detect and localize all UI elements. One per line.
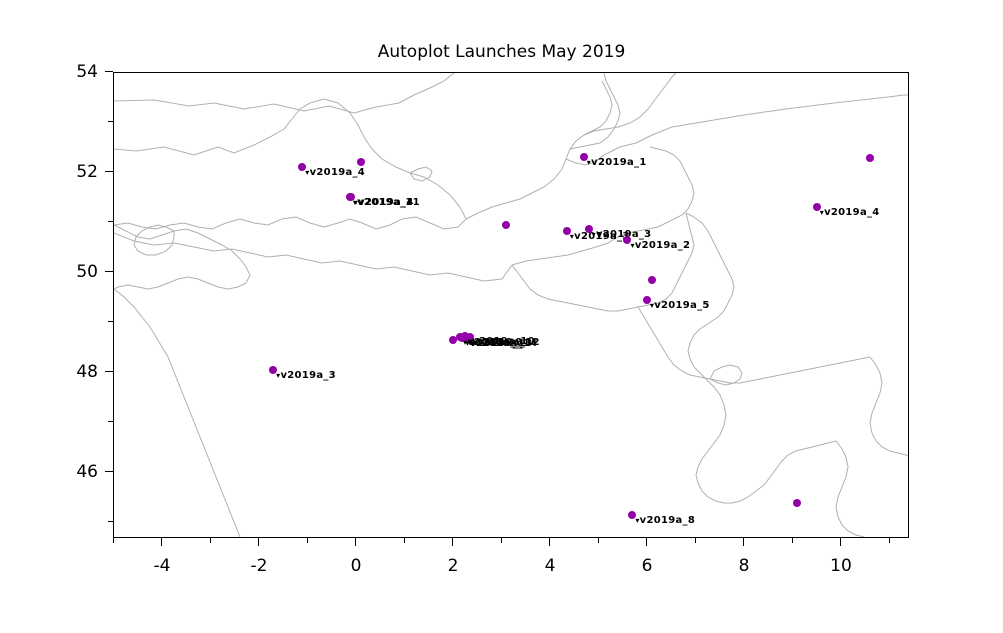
- xtick-label-2: 2: [423, 556, 483, 576]
- xtick-major-0: [355, 538, 356, 546]
- data-point-label: ▾v2019a_4: [820, 208, 880, 218]
- ytick-minor-51: [108, 221, 113, 222]
- data-point-label: ▾v2019a_9: [463, 338, 523, 348]
- ytick-label-46: 46: [38, 462, 98, 482]
- ytick-major-50: [105, 271, 113, 272]
- xtick-label-4: 4: [520, 556, 580, 576]
- ytick-label-50: 50: [38, 262, 98, 282]
- ytick-minor-49: [108, 321, 113, 322]
- xtick-label-m4: -4: [132, 556, 192, 576]
- ytick-major-52: [105, 171, 113, 172]
- map-coastlines: [114, 73, 909, 538]
- ytick-major-54: [105, 71, 113, 72]
- xtick-minor-7: [695, 538, 696, 543]
- xtick-label-10: 10: [811, 556, 871, 576]
- xtick-label-0: 0: [326, 556, 386, 576]
- data-point-label: ▾v2019a_2: [630, 241, 690, 251]
- xtick-minor-m5: [113, 538, 114, 543]
- data-point-label: ▾v2019a_3: [276, 371, 336, 381]
- ytick-minor-45: [108, 521, 113, 522]
- data-point[interactable]: [648, 276, 656, 284]
- xtick-major-m2: [258, 538, 259, 546]
- xtick-major-4: [549, 538, 550, 546]
- data-point-label: ▾v2019a_5: [650, 301, 710, 311]
- ytick-major-46: [105, 471, 113, 472]
- page-title: Autoplot Launches May 2019: [0, 42, 1003, 62]
- xtick-major-8: [743, 538, 744, 546]
- data-point[interactable]: [793, 499, 801, 507]
- data-point[interactable]: [502, 221, 510, 229]
- plot-axes[interactable]: [113, 72, 909, 538]
- xtick-label-6: 6: [617, 556, 677, 576]
- data-point[interactable]: [866, 154, 874, 162]
- xtick-major-6: [646, 538, 647, 546]
- xtick-label-m2: -2: [229, 556, 289, 576]
- xtick-major-m4: [161, 538, 162, 546]
- xtick-minor-1: [404, 538, 405, 543]
- xtick-label-8: 8: [714, 556, 774, 576]
- data-point[interactable]: [449, 336, 457, 344]
- figure-canvas: Autoplot Launches May 2019: [0, 0, 1003, 633]
- xtick-major-10: [840, 538, 841, 546]
- ytick-minor-53: [108, 121, 113, 122]
- data-point-label: ▾v2019a_1: [587, 158, 647, 168]
- ytick-label-52: 52: [38, 162, 98, 182]
- xtick-minor-m3: [210, 538, 211, 543]
- ytick-minor-47: [108, 421, 113, 422]
- data-point-label: ▾v2019a_4: [354, 198, 414, 208]
- data-point[interactable]: [357, 158, 365, 166]
- xtick-minor-11: [889, 538, 890, 543]
- data-point-label: ▾v2019a_8: [635, 516, 695, 526]
- ytick-label-54: 54: [38, 62, 98, 82]
- xtick-minor-m1: [307, 538, 308, 543]
- data-point-label: ▾v2019a_3: [592, 230, 652, 240]
- xtick-minor-9: [792, 538, 793, 543]
- ytick-major-48: [105, 371, 113, 372]
- ytick-label-48: 48: [38, 362, 98, 382]
- data-point-label: ▾v2019a_4: [305, 168, 365, 178]
- xtick-major-2: [452, 538, 453, 546]
- xtick-minor-5: [598, 538, 599, 543]
- xtick-minor-3: [501, 538, 502, 543]
